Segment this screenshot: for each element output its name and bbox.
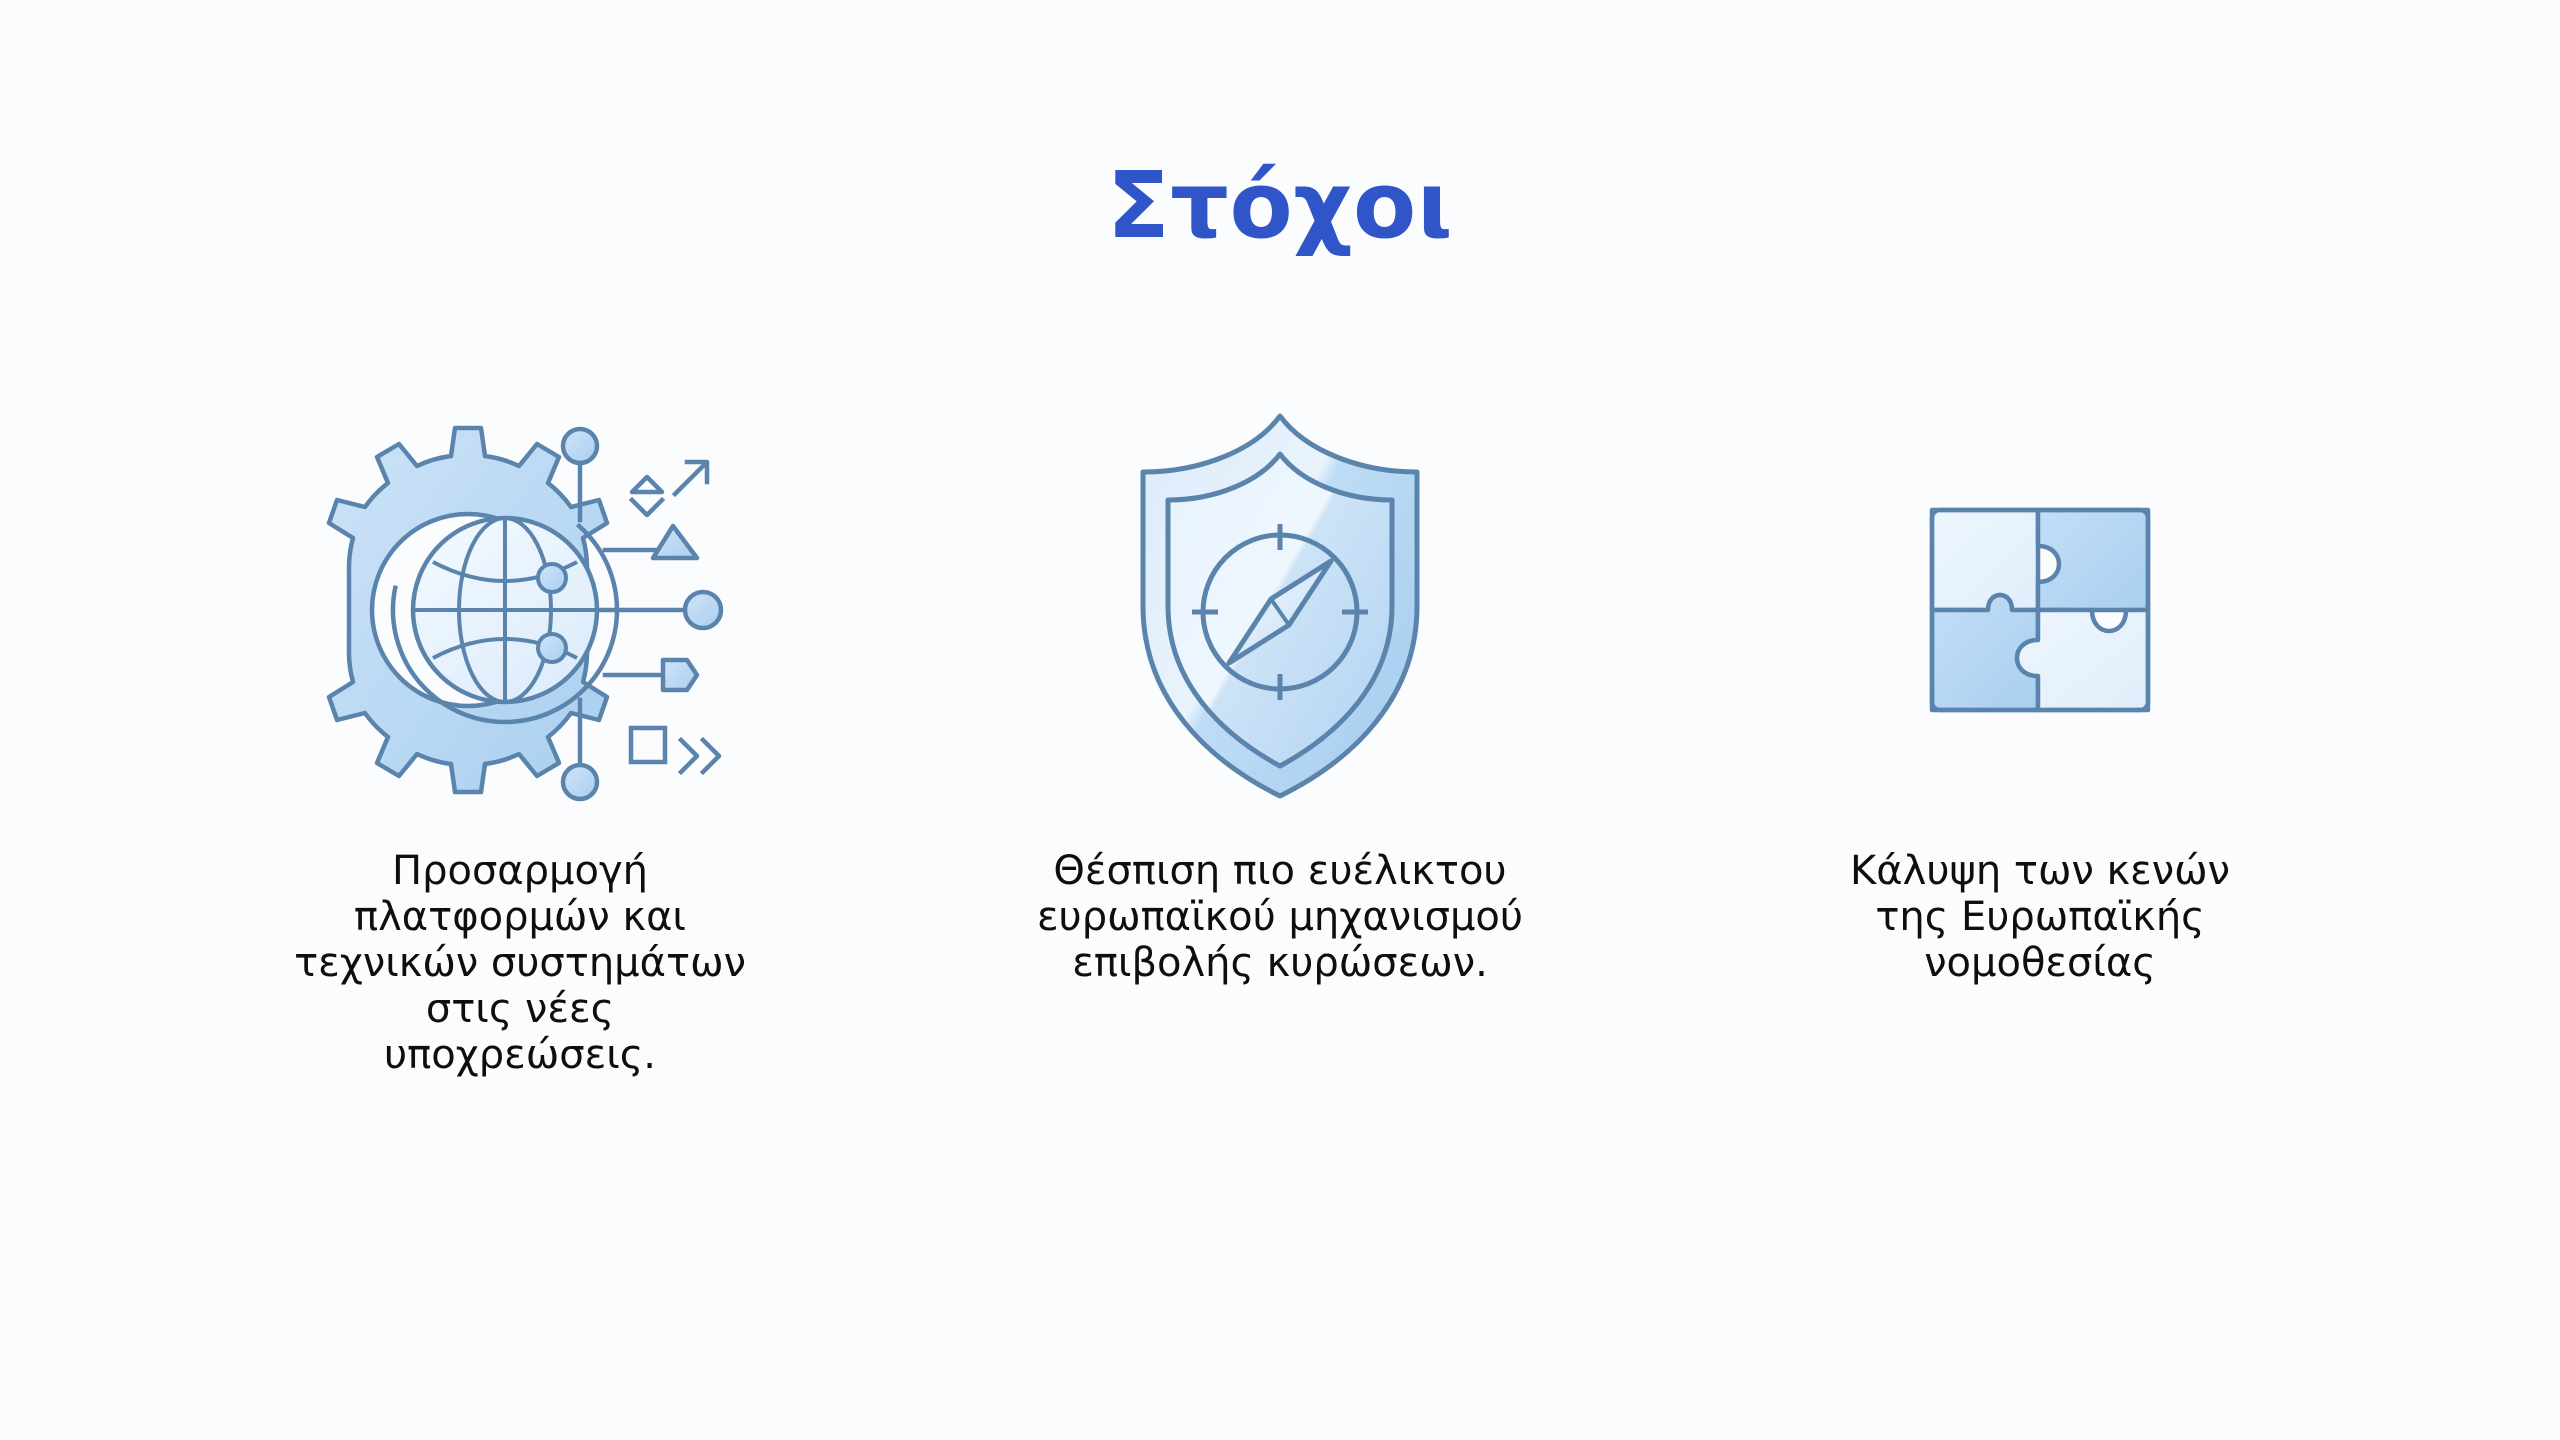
objectives-columns: Προσαρμογή πλατφορμών και τεχνικών συστη… <box>0 400 2560 1118</box>
slide-root: Στόχοι <box>0 0 2560 1440</box>
puzzle-piece-top-left <box>1932 510 2038 610</box>
puzzle-piece-bottom-right <box>2017 610 2148 710</box>
shield-compass-icon <box>1135 400 1425 820</box>
gear-globe-network-svg <box>305 410 735 810</box>
objective-caption-1: Προσαρμογή πλατφορμών και τεχνικών συστη… <box>290 848 750 1078</box>
objective-column-3: Κάλυψη των κενών της Ευρωπαϊκής νομοθεσί… <box>1660 400 2420 1026</box>
gear-globe-network-icon <box>305 400 735 820</box>
objective-caption-3: Κάλυψη των κενών της Ευρωπαϊκής νομοθεσί… <box>1850 848 2230 986</box>
puzzle-piece-top-right <box>2038 510 2148 610</box>
puzzle-four-pieces-icon <box>1920 400 2160 820</box>
puzzle-four-pieces-svg <box>1920 504 2160 716</box>
objective-column-1: Προσαρμογή πλατφορμών και τεχνικών συστη… <box>140 400 900 1118</box>
page-title: Στόχοι <box>0 158 2560 255</box>
objective-column-2: Θέσπιση πιο ευέλικτου ευρωπαϊκού μηχανισ… <box>900 400 1660 1026</box>
objective-caption-2: Θέσπιση πιο ευέλικτου ευρωπαϊκού μηχανισ… <box>1037 848 1523 986</box>
shield-compass-svg <box>1135 410 1425 810</box>
